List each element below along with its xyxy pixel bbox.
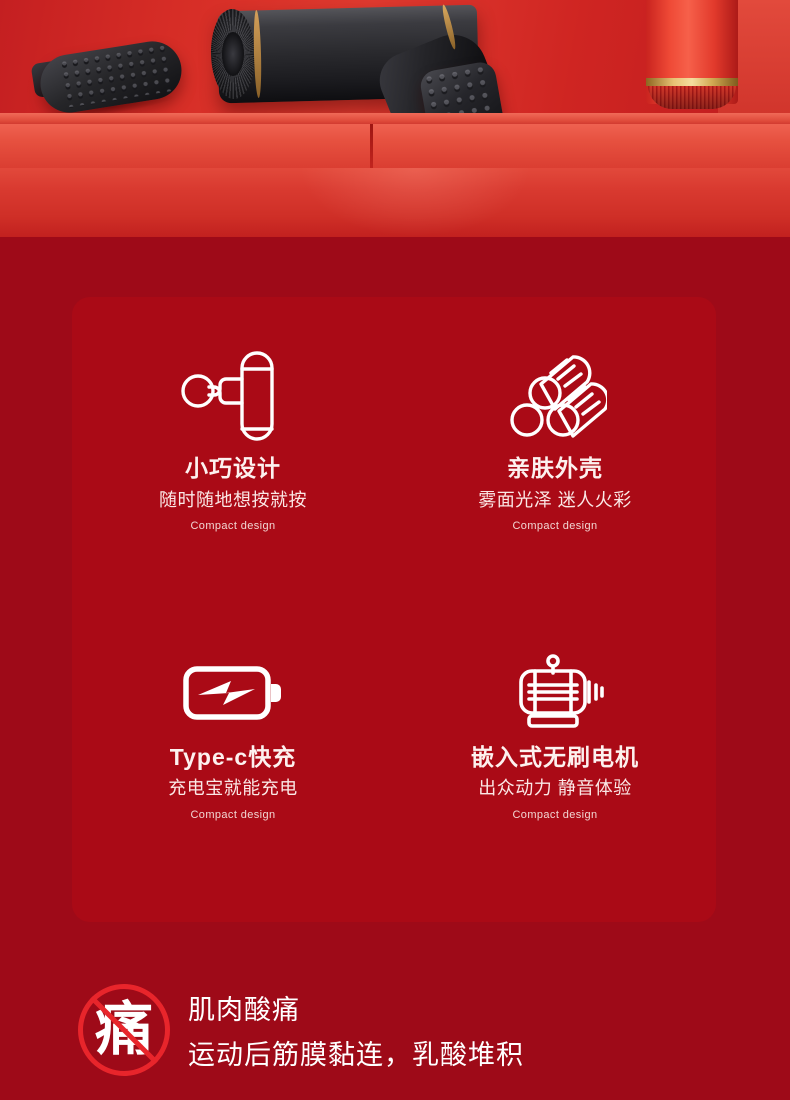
- feature-subtitle: 随时随地想按就按: [159, 490, 307, 512]
- feature-card-compact-design: 小巧设计 随时随地想按就按 Compact design: [72, 297, 394, 610]
- feature-subtitle: 充电宝就能充电: [168, 778, 298, 800]
- photo-shelf-seam: [370, 124, 373, 169]
- photo-shelf-front: [0, 124, 790, 169]
- massage-gun-hub: [222, 32, 244, 76]
- feature-panel: 小巧设计 随时随地想按就按 Compact design: [72, 297, 716, 922]
- feature-subtitle: 出众动力 静音体验: [478, 778, 632, 800]
- feature-card-brushless-motor: 嵌入式无刷电机 出众动力 静音体验 Compact design: [394, 610, 716, 923]
- massage-gun-icon: [181, 349, 285, 445]
- feature-title: 小巧设计: [185, 455, 281, 483]
- pain-banner: 痛 肌肉酸痛 运动后筋膜黏连，乳酸堆积: [0, 960, 790, 1100]
- feature-subtitle: 雾面光泽 迷人火彩: [478, 490, 632, 512]
- electric-motor-icon: [505, 654, 605, 732]
- product-photo-massage-gun: [0, 0, 790, 237]
- feature-title: 嵌入式无刷电机: [471, 744, 639, 772]
- pain-banner-text: 肌肉酸痛 运动后筋膜黏连，乳酸堆积: [188, 988, 524, 1072]
- feature-title: Type-c快充: [170, 744, 296, 772]
- pain-banner-line2: 运动后筋膜黏连，乳酸堆积: [188, 1033, 524, 1072]
- photo-floor-reflection: [300, 168, 530, 237]
- feature-english-caption: Compact design: [512, 809, 597, 821]
- feature-title: 亲肤外壳: [507, 455, 603, 483]
- stacked-rollers-icon: [503, 349, 607, 445]
- feature-card-skin-friendly-shell: 亲肤外壳 雾面光泽 迷人火彩 Compact design: [394, 297, 716, 610]
- feature-english-caption: Compact design: [512, 520, 597, 532]
- no-pain-prohibition-icon: 痛: [78, 984, 170, 1076]
- product-detail-page: 小巧设计 随时随地想按就按 Compact design: [0, 0, 790, 1100]
- battery-bolt-icon: [183, 654, 283, 732]
- feature-grid: 小巧设计 随时随地想按就按 Compact design: [72, 297, 716, 922]
- feature-english-caption: Compact design: [190, 809, 275, 821]
- feature-card-typec-fast-charge: Type-c快充 充电宝就能充电 Compact design: [72, 610, 394, 923]
- red-canister-base-shadow: [648, 85, 736, 109]
- feature-english-caption: Compact design: [190, 520, 275, 532]
- red-canister-gold-ring: [646, 78, 738, 86]
- pain-banner-line1: 肌肉酸痛: [188, 988, 524, 1027]
